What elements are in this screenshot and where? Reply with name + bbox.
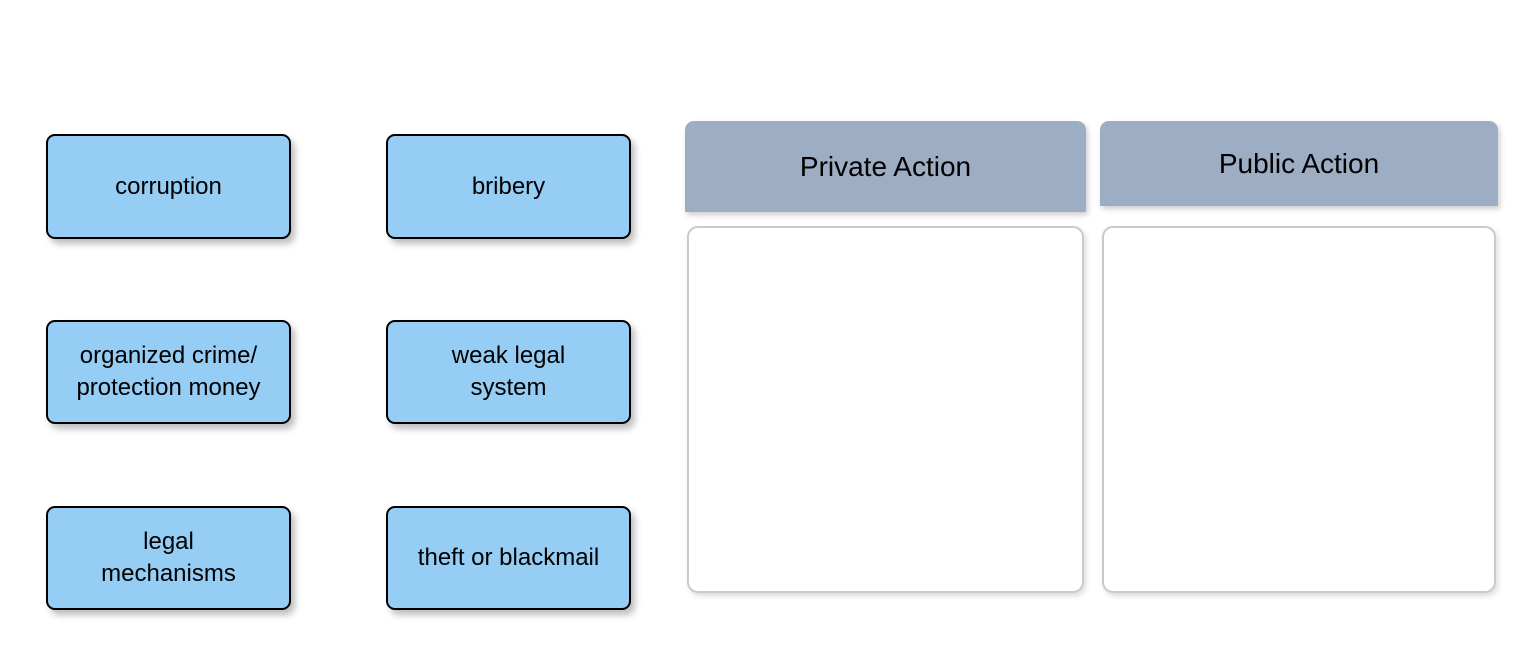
dropzone-body-public-action[interactable]	[1102, 226, 1496, 593]
dropzone-private-action[interactable]: Private Action	[685, 121, 1086, 212]
dropzone-slots-private-action[interactable]	[689, 228, 1082, 591]
dropzone-public-action[interactable]: Public Action	[1100, 121, 1498, 206]
dropzone-title: Private Action	[800, 150, 971, 184]
dropzone-body-private-action[interactable]	[687, 226, 1084, 593]
dropzone-header-private-action: Private Action	[685, 121, 1086, 212]
dropzone-slots-public-action[interactable]	[1104, 228, 1494, 591]
categorization-board: corruption organized crime/ protection m…	[0, 0, 1536, 650]
dropzone-header-public-action: Public Action	[1100, 121, 1498, 206]
dropzone-container: Private Action Public Action	[0, 0, 1536, 650]
dropzone-title: Public Action	[1219, 147, 1379, 181]
